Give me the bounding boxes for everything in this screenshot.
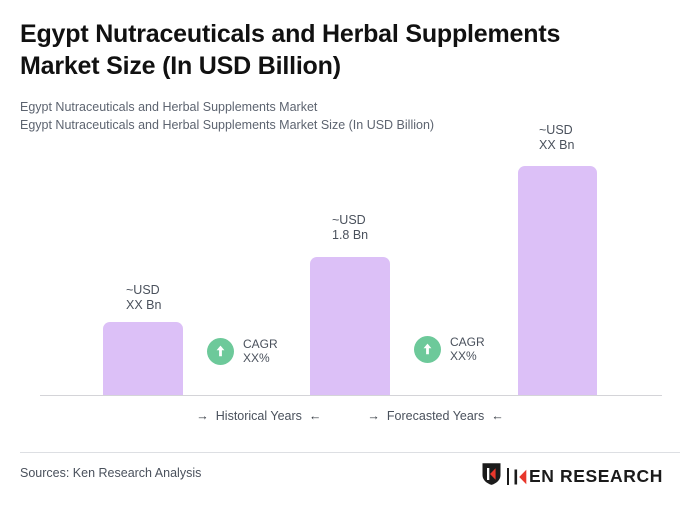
- period-historical: → Historical Years ←: [196, 409, 321, 423]
- logo-wordmark: EN RESEARCH: [514, 468, 663, 486]
- period-label-forecasted: Forecasted Years: [387, 409, 484, 423]
- bar-label-forecasted: ~USD XX Bn: [539, 123, 574, 153]
- arrow-up-icon: [207, 338, 234, 365]
- arrow-left-icon: ←: [491, 410, 504, 423]
- cagr-badge-historical: CAGRXX%: [207, 337, 278, 366]
- arrow-left-icon: ←: [309, 410, 322, 423]
- logo-divider: [507, 468, 509, 485]
- sources-text: Sources: Ken Research Analysis: [20, 466, 201, 480]
- cagr-title-historical: CAGR: [243, 337, 278, 351]
- cagr-badge-forecasted: CAGRXX%: [414, 335, 485, 364]
- logo-wordmark-text: EN RESEARCH: [529, 468, 663, 486]
- cagr-label-historical: CAGRXX%: [243, 337, 278, 366]
- bar-forecasted[interactable]: [518, 166, 597, 396]
- cagr-value-historical: XX%: [243, 351, 270, 365]
- bar-label-historical: ~USD XX Bn: [126, 283, 161, 313]
- x-axis-line: [40, 395, 662, 396]
- arrow-right-icon: →: [196, 410, 209, 423]
- period-legend: → Historical Years ← → Forecasted Years …: [0, 409, 700, 423]
- arrow-up-icon: [414, 336, 441, 363]
- period-label-historical: Historical Years: [216, 409, 302, 423]
- bar-group: [0, 0, 700, 396]
- period-forecasted: → Forecasted Years ←: [367, 409, 503, 423]
- chart-plot-area: ~USD XX Bn ~USD 1.8 Bn ~USD XX Bn CAGRXX…: [0, 0, 700, 440]
- logo-shield-icon: [481, 462, 502, 491]
- bar-mid-year[interactable]: [310, 257, 390, 396]
- cagr-value-forecasted: XX%: [450, 349, 477, 363]
- ken-research-logo: EN RESEARCH: [481, 462, 663, 491]
- arrow-right-icon: →: [367, 410, 380, 423]
- bar-historical[interactable]: [103, 322, 183, 396]
- footer-divider: [20, 452, 680, 453]
- cagr-label-forecasted: CAGRXX%: [450, 335, 485, 364]
- cagr-title-forecasted: CAGR: [450, 335, 485, 349]
- bar-label-mid-year: ~USD 1.8 Bn: [332, 213, 368, 243]
